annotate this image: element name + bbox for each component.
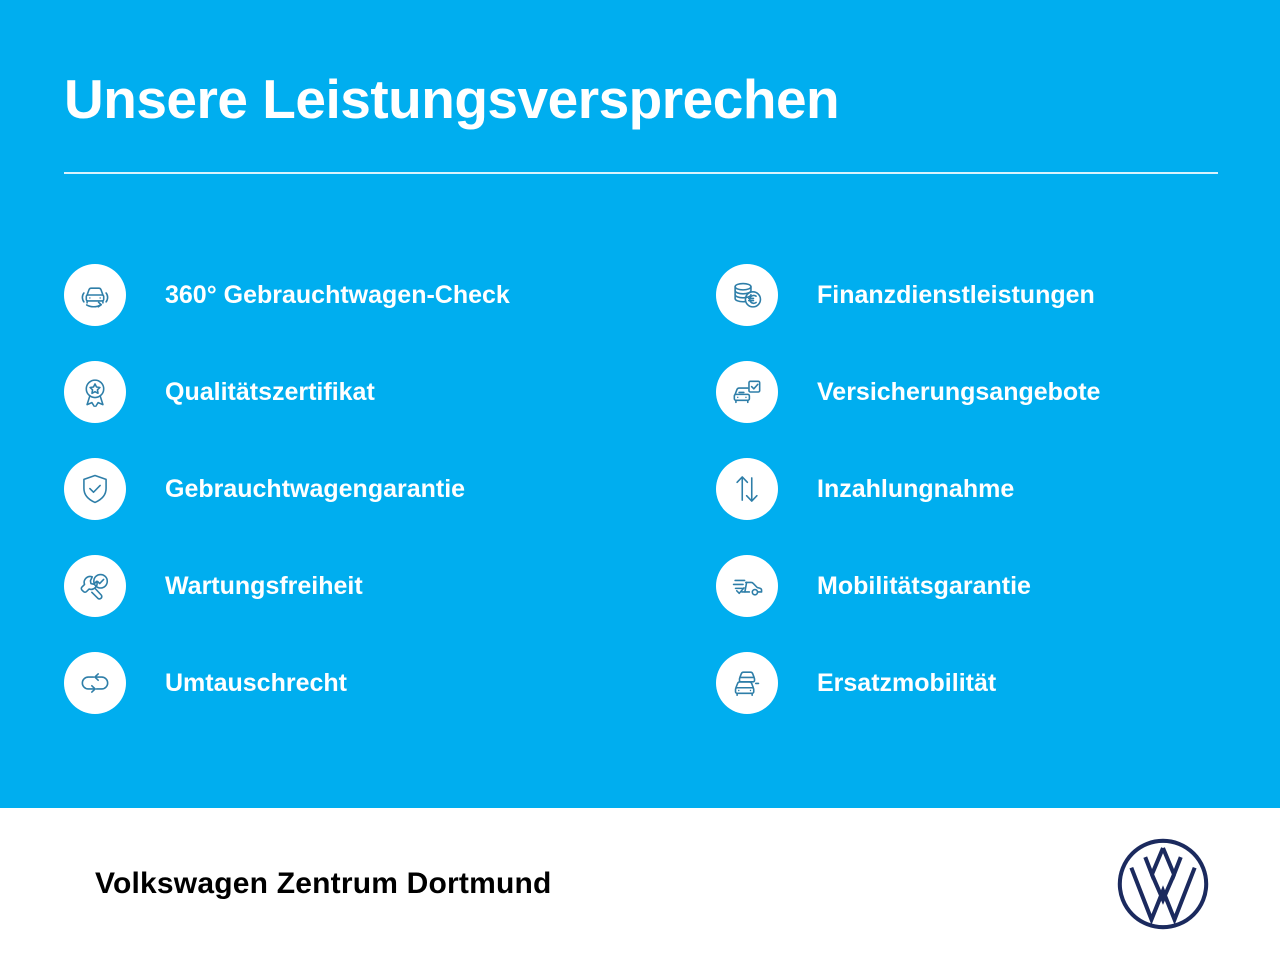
promise-label: Ersatzmobilität [817,668,996,698]
car-360-check-icon [64,264,126,326]
footer-bar: Volkswagen Zentrum Dortmund [0,808,1280,960]
promise-item-versicherungsangebote[interactable]: Versicherungsangebote [716,343,1256,440]
promises-column-right: Finanzdienstleistungen [716,246,1256,731]
promise-item-finanzdienstleistungen[interactable]: Finanzdienstleistungen [716,246,1256,343]
promises-grid: 360° Gebrauchtwagen-Check Qualitätszerti… [0,246,1280,731]
promises-page: Unsere Leistungsversprechen [0,0,1280,960]
wrench-check-icon [64,555,126,617]
car-checkbox-icon [716,361,778,423]
title-divider [64,172,1218,174]
car-speed-check-icon [716,555,778,617]
dealer-name: Volkswagen Zentrum Dortmund [95,867,552,901]
promise-label: Finanzdienstleistungen [817,280,1095,310]
promise-label: Versicherungsangebote [817,377,1100,407]
award-ribbon-icon [64,361,126,423]
page-title: Unsere Leistungsversprechen [64,64,839,134]
promise-label: Mobilitätsgarantie [817,571,1031,601]
volkswagen-logo [1115,836,1211,932]
promises-column-left: 360° Gebrauchtwagen-Check Qualitätszerti… [64,246,684,731]
promise-label: Wartungsfreiheit [165,571,363,601]
promise-item-mobilitaetsgarantie[interactable]: Mobilitätsgarantie [716,537,1256,634]
two-cars-icon [716,652,778,714]
promise-item-umtauschrecht[interactable]: Umtauschrecht [64,634,684,731]
promise-item-qualitaetszertifikat[interactable]: Qualitätszertifikat [64,343,684,440]
arrows-up-down-icon [716,458,778,520]
exchange-arrows-icon [64,652,126,714]
promise-label: Inzahlungnahme [817,474,1014,504]
promise-item-wartungsfreiheit[interactable]: Wartungsfreiheit [64,537,684,634]
coins-euro-icon [716,264,778,326]
promise-label: Umtauschrecht [165,668,347,698]
promise-item-360-check[interactable]: 360° Gebrauchtwagen-Check [64,246,684,343]
promise-item-inzahlungnahme[interactable]: Inzahlungnahme [716,440,1256,537]
promise-label: Gebrauchtwagengarantie [165,474,465,504]
promise-item-ersatzmobilitaet[interactable]: Ersatzmobilität [716,634,1256,731]
promise-label: Qualitätszertifikat [165,377,375,407]
promise-item-gebrauchtwagengarantie[interactable]: Gebrauchtwagengarantie [64,440,684,537]
shield-check-icon [64,458,126,520]
hero-panel: Unsere Leistungsversprechen [0,0,1280,808]
promise-label: 360° Gebrauchtwagen-Check [165,280,510,310]
